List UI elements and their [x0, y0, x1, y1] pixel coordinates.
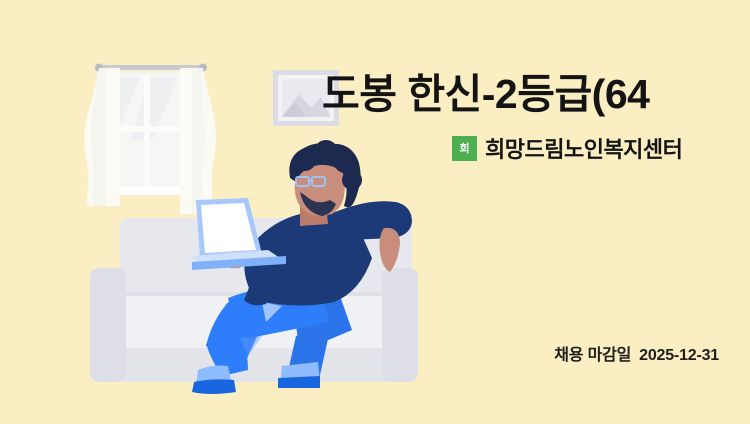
sweater-torso — [244, 211, 372, 305]
deadline-row: 채용 마감일2025-12-31 — [554, 341, 719, 365]
leg-near-thigh — [228, 285, 330, 340]
page-title: 도봉 한신-2등급(64 — [322, 72, 742, 118]
couch — [90, 218, 418, 382]
laptop — [192, 198, 286, 270]
company-badge: 희 — [452, 136, 477, 161]
sock-near — [196, 366, 232, 387]
company-name: 희망드림노인복지센터 — [485, 132, 682, 164]
deadline-date: 2025-12-31 — [639, 347, 719, 364]
head — [295, 158, 345, 216]
beard — [300, 192, 336, 216]
shoe-near — [192, 379, 236, 394]
leg-far — [292, 296, 352, 352]
hair — [289, 143, 358, 207]
job-poster-canvas: 도봉 한신-2등급(64 희 희망드림노인복지센터 채용 마감일2025-12-… — [0, 0, 750, 424]
person-figure — [192, 140, 412, 394]
leg-near-shin — [206, 300, 268, 366]
glasses-icon — [296, 177, 325, 186]
hand-left — [212, 250, 248, 268]
company-row: 희 희망드림노인복지센터 — [452, 132, 682, 164]
hand-right — [380, 228, 401, 272]
window-with-curtains — [84, 64, 215, 215]
deadline-label: 채용 마감일 — [554, 347, 631, 364]
arm-right — [330, 201, 412, 240]
arm-left — [244, 262, 280, 305]
